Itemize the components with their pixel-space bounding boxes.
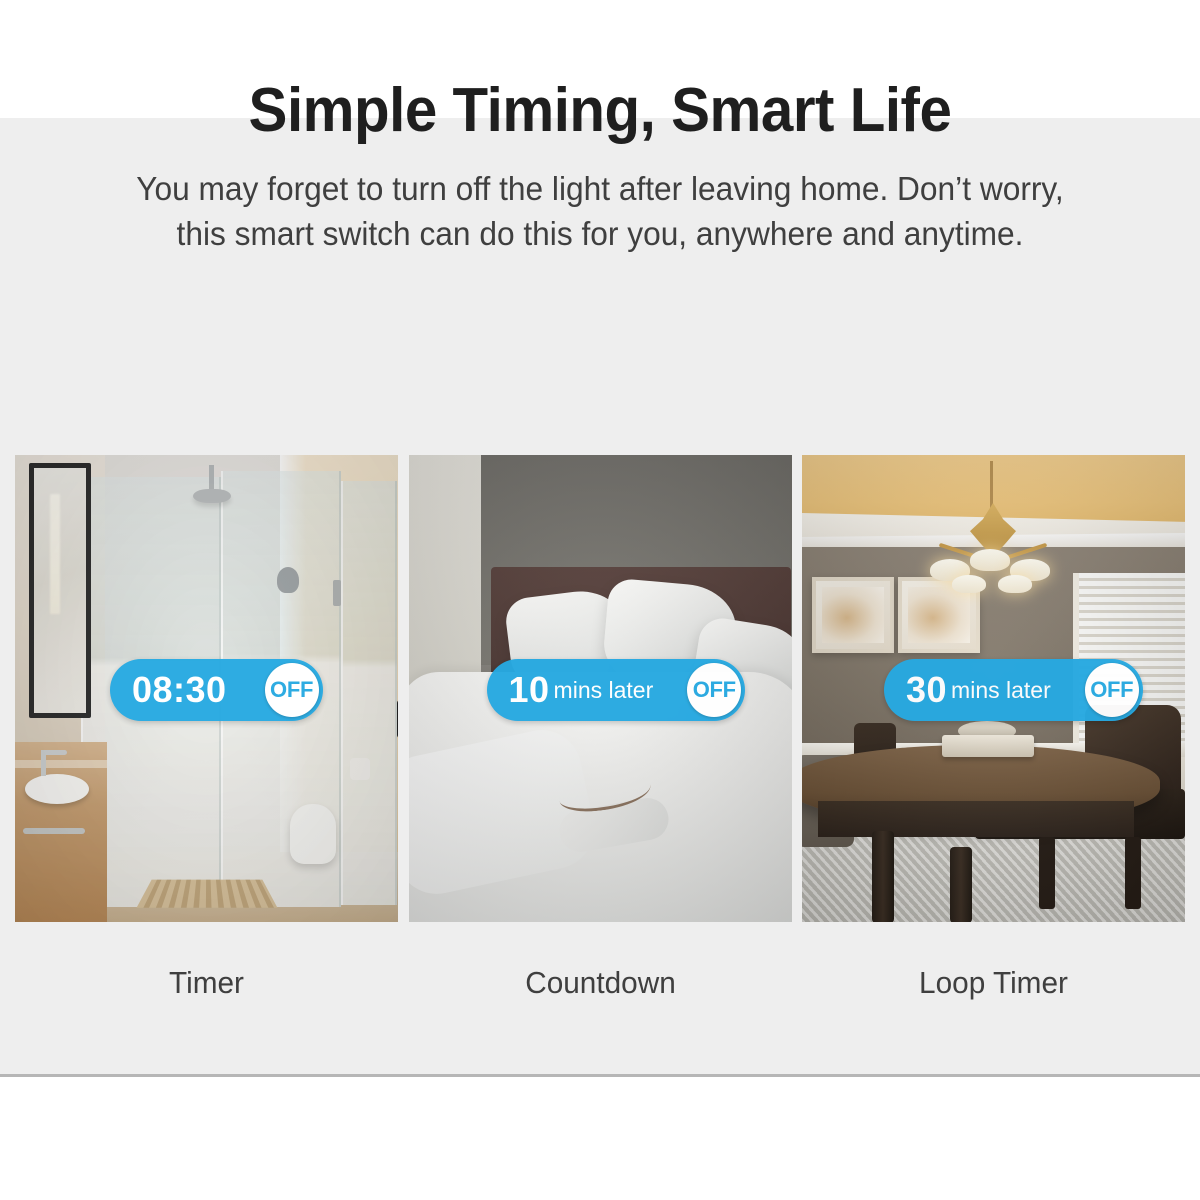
page-title: Simple Timing, Smart Life	[36, 78, 1164, 144]
wall-fixture	[397, 700, 398, 738]
page-root: Simple Timing, Smart Life You may forget…	[0, 0, 1200, 1200]
timer-badge[interactable]: 08:30 OFF	[110, 659, 323, 721]
page-subtitle: You may forget to turn off the light aft…	[24, 166, 1176, 257]
power-toggle-label: OFF	[270, 679, 313, 701]
bathroom-mirror	[29, 463, 91, 718]
table-leg-2	[950, 847, 972, 922]
dining-table-apron	[818, 801, 1134, 837]
caption-loop-timer: Loop Timer	[810, 965, 1178, 1001]
feature-card-row: 08:30 OFF	[15, 455, 1185, 925]
countdown-badge-unit: mins later	[554, 679, 654, 702]
shower-head	[193, 489, 231, 503]
timer-badge-value: 08:30	[132, 672, 227, 708]
table-leg-1	[872, 831, 894, 922]
feature-card-timer[interactable]: 08:30 OFF	[15, 455, 398, 922]
page-subtitle-line-1: You may forget to turn off the light aft…	[24, 166, 1176, 212]
heading-block: Simple Timing, Smart Life You may forget…	[0, 78, 1200, 257]
towel-bar	[23, 828, 85, 834]
caption-timer: Timer	[23, 965, 391, 1001]
bathroom-floor-mat	[137, 880, 278, 908]
loop-timer-badge-value: 30	[906, 672, 947, 708]
countdown-badge-value: 10	[509, 672, 550, 708]
centerpiece-tray	[942, 735, 1034, 757]
chandelier-shade-5	[998, 575, 1032, 593]
loop-timer-badge[interactable]: 30 mins later OFF	[884, 659, 1143, 721]
toilet	[290, 804, 336, 864]
power-toggle-label: OFF	[1090, 679, 1133, 701]
feature-card-countdown[interactable]: 10 mins later OFF	[409, 455, 792, 922]
power-toggle-knob[interactable]: OFF	[687, 663, 741, 717]
chandelier-shade-4	[952, 575, 986, 593]
bathroom-sink	[25, 774, 89, 804]
chandelier-shade-2	[970, 549, 1010, 571]
shower-glass-panel-3	[341, 481, 397, 905]
bench-leg-1	[1125, 837, 1141, 909]
power-toggle-knob[interactable]: OFF	[265, 663, 319, 717]
shower-door-handle	[277, 567, 299, 593]
feature-card-loop-timer[interactable]: 30 mins later OFF	[802, 455, 1185, 922]
page-subtitle-line-2: this smart switch can do this for you, a…	[24, 211, 1176, 257]
power-toggle-label: OFF	[693, 679, 736, 701]
bench-leg-2	[1039, 837, 1055, 909]
caption-countdown: Countdown	[416, 965, 784, 1001]
shower-door-latch	[333, 580, 341, 606]
caption-row: Timer Countdown Loop Timer	[15, 965, 1185, 1001]
power-toggle-knob[interactable]: OFF	[1085, 663, 1139, 717]
loop-timer-badge-unit: mins later	[951, 679, 1051, 702]
countdown-badge[interactable]: 10 mins later OFF	[487, 659, 746, 721]
bathroom-faucet	[41, 750, 46, 776]
toilet-paper-roll	[350, 758, 370, 780]
wall-art-1	[812, 577, 894, 653]
